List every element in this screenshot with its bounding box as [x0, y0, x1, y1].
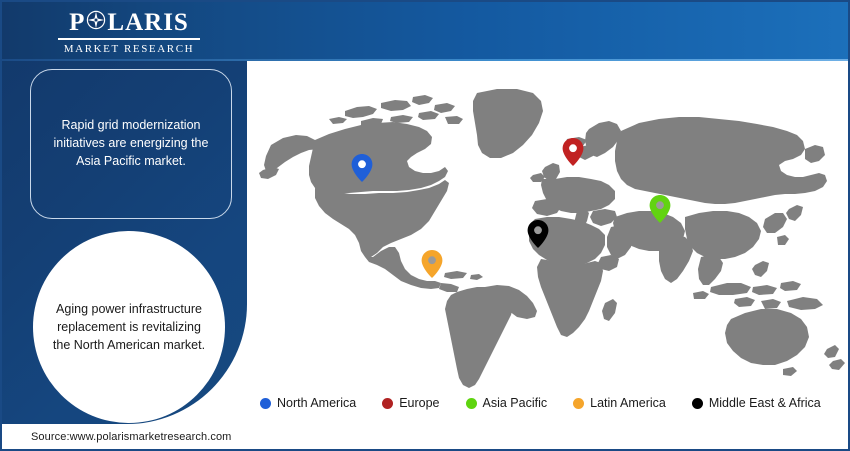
logo-wordmark-before: P	[69, 10, 85, 36]
legend-dot-icon	[260, 398, 271, 409]
infographic-root: Substation Automation Market Regional In…	[0, 0, 850, 451]
map-pin-latin-america[interactable]	[420, 249, 444, 284]
logo-tagline: MARKET RESEARCH	[54, 43, 204, 55]
map-pin-europe[interactable]	[561, 137, 585, 172]
legend-label: Middle East & Africa	[709, 396, 821, 410]
legend-dot-icon	[466, 398, 477, 409]
map-pin-asia-pacific[interactable]	[648, 194, 672, 229]
map-landmasses	[259, 89, 845, 388]
legend-item-latin-america[interactable]: Latin America	[573, 396, 666, 410]
logo-divider	[58, 38, 200, 40]
legend: North America Europe Asia Pacific Latin …	[260, 393, 840, 413]
legend-label: Latin America	[590, 396, 666, 410]
callout-north-america-text: Aging power infrastructure replacement i…	[33, 300, 225, 354]
map-pin-middle-east-africa[interactable]	[526, 219, 550, 254]
legend-item-middle-east-africa[interactable]: Middle East & Africa	[692, 396, 821, 410]
source-attribution: Source:www.polarismarketresearch.com	[31, 431, 231, 443]
legend-item-asia-pacific[interactable]: Asia Pacific	[466, 396, 548, 410]
legend-item-europe[interactable]: Europe	[382, 396, 439, 410]
legend-label: Europe	[399, 396, 439, 410]
map-pin-north-america[interactable]	[350, 153, 374, 188]
logo-wordmark: P LARIS	[54, 10, 204, 36]
header-underline	[2, 59, 850, 61]
legend-dot-icon	[573, 398, 584, 409]
callout-asia-pacific-text: Rapid grid modernization initiatives are…	[31, 117, 231, 170]
legend-label: Asia Pacific	[483, 396, 548, 410]
legend-dot-icon	[382, 398, 393, 409]
legend-dot-icon	[692, 398, 703, 409]
legend-item-north-america[interactable]: North America	[260, 396, 356, 410]
legend-label: North America	[277, 396, 356, 410]
polaris-logo: P LARIS MARKET RESEARCH	[54, 10, 204, 55]
callout-north-america: Aging power infrastructure replacement i…	[33, 231, 225, 423]
compass-star-icon	[86, 10, 106, 36]
world-map	[249, 61, 850, 391]
logo-wordmark-after: LARIS	[107, 10, 188, 36]
callout-asia-pacific: Rapid grid modernization initiatives are…	[30, 69, 232, 219]
